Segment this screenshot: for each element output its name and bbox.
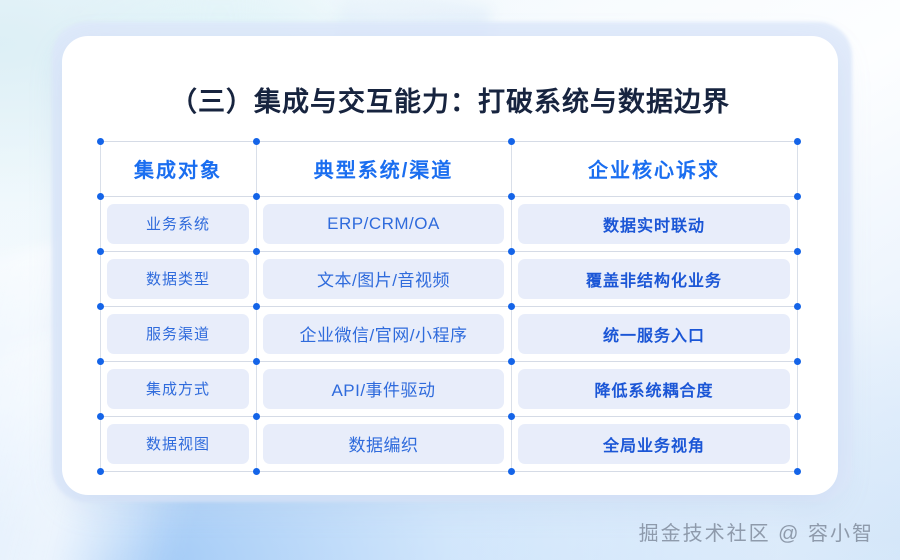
table-header-label: 典型系统/渠道 [314, 154, 454, 183]
table-cell: 统一服务入口 [511, 306, 797, 361]
table-cell-pill: 数据编织 [263, 424, 504, 464]
table-cell: 业务系统 [100, 196, 256, 251]
table-cell: 数据实时联动 [511, 196, 797, 251]
table-cell: 集成方式 [100, 361, 256, 416]
watermark-label: 掘金技术社区 @ 容小智 [639, 517, 874, 546]
table-cell-pill: 业务系统 [107, 204, 249, 244]
table-cell: ERP/CRM/OA [256, 196, 511, 251]
table-header-label: 集成对象 [134, 154, 222, 183]
table-cell: 数据编织 [256, 416, 511, 471]
table-cell-pill: 文本/图片/音视频 [263, 259, 504, 299]
table-header-cell: 企业核心诉求 [511, 141, 797, 196]
slide-canvas: （三）集成与交互能力：打破系统与数据边界 集成对象典型系统/渠道企业核心诉求业务… [0, 0, 900, 560]
comparison-table: 集成对象典型系统/渠道企业核心诉求业务系统ERP/CRM/OA数据实时联动数据类… [100, 141, 797, 468]
table-cell-pill: 降低系统耦合度 [518, 369, 790, 409]
table-header-label: 企业核心诉求 [588, 154, 720, 183]
page-title: （三）集成与交互能力：打破系统与数据边界 [62, 80, 838, 119]
table-cell-pill: 数据实时联动 [518, 204, 790, 244]
table-cell-pill: 数据视图 [107, 424, 249, 464]
table-cell-pill: 数据类型 [107, 259, 249, 299]
table-cell: API/事件驱动 [256, 361, 511, 416]
table-row: 集成方式API/事件驱动降低系统耦合度 [100, 361, 797, 416]
table-row: 数据视图数据编织全局业务视角 [100, 416, 797, 471]
content-card: （三）集成与交互能力：打破系统与数据边界 集成对象典型系统/渠道企业核心诉求业务… [62, 36, 838, 495]
table-cell: 文本/图片/音视频 [256, 251, 511, 306]
table-cell: 全局业务视角 [511, 416, 797, 471]
table-cell: 服务渠道 [100, 306, 256, 361]
table-row: 服务渠道企业微信/官网/小程序统一服务入口 [100, 306, 797, 361]
table-cell-pill: ERP/CRM/OA [263, 204, 504, 244]
table-cell: 覆盖非结构化业务 [511, 251, 797, 306]
table-cell: 企业微信/官网/小程序 [256, 306, 511, 361]
table-cell-pill: 集成方式 [107, 369, 249, 409]
table-header-cell: 集成对象 [100, 141, 256, 196]
table-cell-pill: 全局业务视角 [518, 424, 790, 464]
table-cell-pill: API/事件驱动 [263, 369, 504, 409]
table-cell-pill: 服务渠道 [107, 314, 249, 354]
table-cell-pill: 覆盖非结构化业务 [518, 259, 790, 299]
table-cell: 降低系统耦合度 [511, 361, 797, 416]
table-header-cell: 典型系统/渠道 [256, 141, 511, 196]
table-gridline-horizontal [100, 471, 797, 472]
table-cell: 数据视图 [100, 416, 256, 471]
table-cell-pill: 统一服务入口 [518, 314, 790, 354]
table-row: 数据类型文本/图片/音视频覆盖非结构化业务 [100, 251, 797, 306]
table-row: 业务系统ERP/CRM/OA数据实时联动 [100, 196, 797, 251]
table-cell: 数据类型 [100, 251, 256, 306]
table-cell-pill: 企业微信/官网/小程序 [263, 314, 504, 354]
table-header-row: 集成对象典型系统/渠道企业核心诉求 [100, 141, 797, 196]
